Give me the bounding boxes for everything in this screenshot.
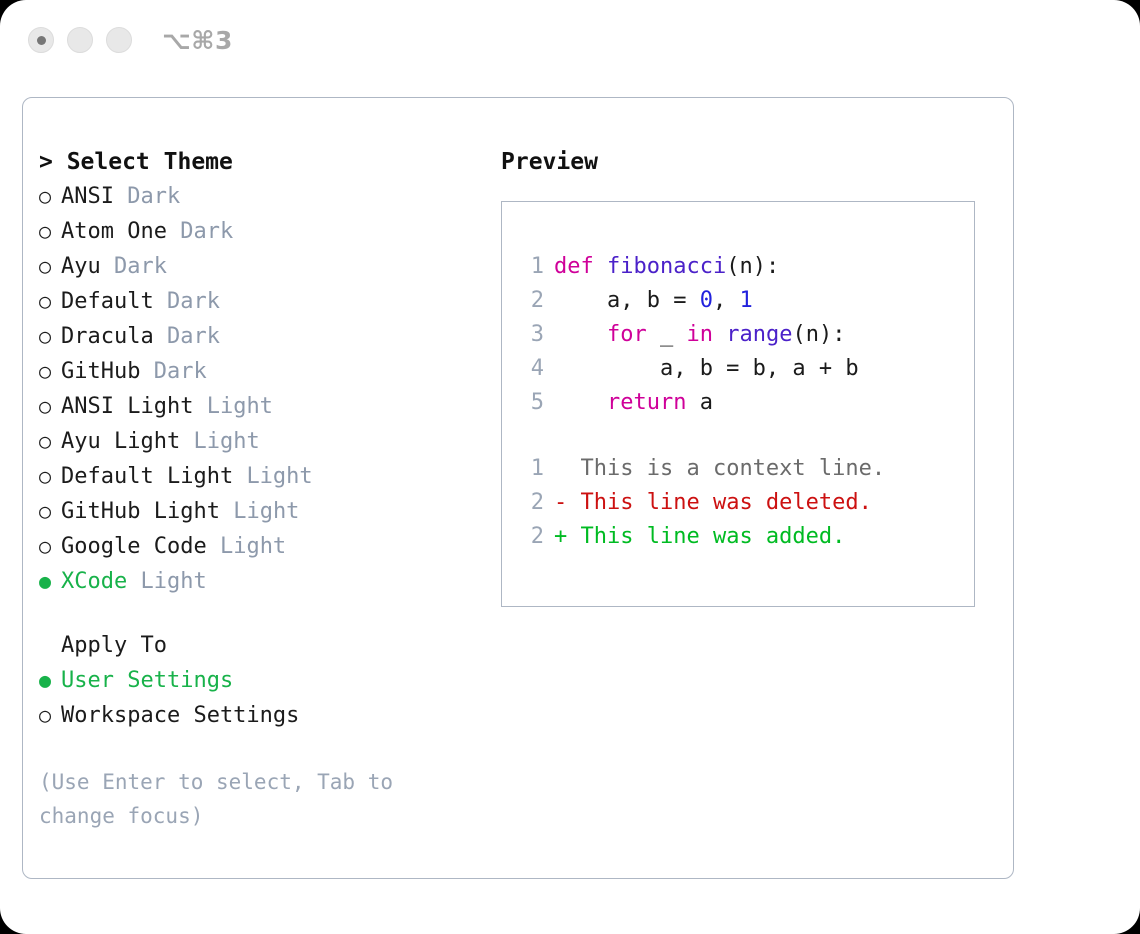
- diff-line-content: - This line was deleted.: [554, 486, 872, 520]
- theme-option-label: Dracula: [61, 320, 154, 354]
- code-token-pln: [554, 322, 607, 347]
- code-line-number: 3: [518, 318, 544, 352]
- preview-box: 1def fibonacci(n):2 a, b = 0, 13 for _ i…: [501, 201, 975, 607]
- diff-line-text: This line was added.: [581, 524, 846, 549]
- window-close-button[interactable]: [28, 27, 54, 53]
- code-line-content: for _ in range(n):: [554, 318, 845, 352]
- theme-option-xcode[interactable]: ●XCode Light: [39, 564, 479, 599]
- apply-to-option-label: User Settings: [61, 664, 233, 698]
- theme-variant-badge: Dark: [180, 215, 233, 249]
- diff-line-content: This is a context line.: [554, 452, 885, 486]
- theme-variant-badge: Light: [233, 495, 299, 529]
- code-line-content: def fibonacci(n):: [554, 250, 779, 284]
- window-zoom-button[interactable]: [106, 27, 132, 53]
- theme-option-label: Default: [61, 285, 154, 319]
- theme-option-github-light[interactable]: ○GitHub Light Light: [39, 494, 479, 529]
- code-sample: 1def fibonacci(n):2 a, b = 0, 13 for _ i…: [518, 250, 966, 554]
- radio-unselected-icon: ○: [39, 249, 61, 283]
- theme-option-ayu[interactable]: ○Ayu Dark: [39, 249, 479, 284]
- radio-unselected-icon: ○: [39, 389, 61, 423]
- theme-option-label: Ayu: [61, 250, 101, 284]
- radio-selected-icon: ●: [39, 663, 61, 697]
- theme-option-label: GitHub Light: [61, 495, 220, 529]
- theme-variant-badge: Dark: [167, 285, 220, 319]
- app-window: ⌥⌘3 > Select Theme ○ANSI Dark○Atom One D…: [0, 0, 1140, 934]
- diff-line-number: 1: [518, 452, 544, 486]
- code-line-content: a, b = b, a + b: [554, 352, 859, 386]
- code-token-pln: a, b =: [554, 288, 700, 313]
- apply-to-section: Apply To ●User Settings○Workspace Settin…: [39, 629, 479, 733]
- code-line-number: 4: [518, 352, 544, 386]
- theme-picker-column: > Select Theme ○ANSI Dark○Atom One Dark○…: [39, 145, 479, 833]
- code-line-content: return a: [554, 386, 713, 420]
- theme-variant-badge: Light: [220, 530, 286, 564]
- code-line-number: 1: [518, 250, 544, 284]
- diff-line-text: This is a context line.: [581, 456, 886, 481]
- theme-option-default-light[interactable]: ○Default Light Light: [39, 459, 479, 494]
- code-token-pln: a, b = b, a + b: [554, 356, 859, 381]
- theme-option-dracula[interactable]: ○Dracula Dark: [39, 319, 479, 354]
- theme-variant-badge: Light: [246, 460, 312, 494]
- code-token-pln: (n):: [792, 322, 845, 347]
- radio-unselected-icon: ○: [39, 698, 61, 732]
- code-line: 2 a, b = 0, 1: [518, 284, 966, 318]
- select-theme-heading: > Select Theme: [39, 145, 479, 179]
- code-line: 1def fibonacci(n):: [518, 250, 966, 284]
- code-token-pln: ,: [713, 288, 740, 313]
- theme-option-label: Ayu Light: [61, 425, 180, 459]
- code-token-num: 0: [700, 288, 713, 313]
- diff-line-del: 2- This line was deleted.: [518, 486, 966, 520]
- preview-heading: Preview: [501, 145, 1001, 179]
- main-panel: > Select Theme ○ANSI Dark○Atom One Dark○…: [22, 97, 1014, 879]
- theme-option-label: Atom One: [61, 215, 167, 249]
- code-token-kw: for: [607, 322, 647, 347]
- theme-option-github[interactable]: ○GitHub Dark: [39, 354, 479, 389]
- theme-option-label: ANSI: [61, 180, 114, 214]
- diff-line-add: 2+ This line was added.: [518, 520, 966, 554]
- theme-option-label: Default Light: [61, 460, 233, 494]
- code-token-fn: fibonacci: [607, 254, 726, 279]
- radio-unselected-icon: ○: [39, 354, 61, 388]
- code-token-pln: (n):: [726, 254, 779, 279]
- theme-variant-badge: Dark: [114, 250, 167, 284]
- theme-variant-badge: Dark: [167, 320, 220, 354]
- radio-unselected-icon: ○: [39, 424, 61, 458]
- code-line: 4 a, b = b, a + b: [518, 352, 966, 386]
- code-line-list: 1def fibonacci(n):2 a, b = 0, 13 for _ i…: [518, 250, 966, 420]
- radio-unselected-icon: ○: [39, 319, 61, 353]
- code-token-kw: return: [607, 390, 686, 415]
- theme-option-label: XCode: [61, 565, 127, 599]
- theme-variant-badge: Light: [193, 425, 259, 459]
- theme-option-ansi[interactable]: ○ANSI Dark: [39, 179, 479, 214]
- code-line: 5 return a: [518, 386, 966, 420]
- apply-to-option-workspace-settings[interactable]: ○Workspace Settings: [39, 698, 479, 733]
- code-line-content: a, b = 0, 1: [554, 284, 753, 318]
- apply-to-list: ●User Settings○Workspace Settings: [39, 663, 479, 733]
- diff-line-number: 2: [518, 520, 544, 554]
- preview-column: Preview 1def fibonacci(n):2 a, b = 0, 13…: [501, 145, 1001, 607]
- code-diff-spacer: [518, 420, 966, 452]
- apply-to-option-label: Workspace Settings: [61, 699, 299, 733]
- code-token-fn: range: [726, 322, 792, 347]
- code-line-number: 2: [518, 284, 544, 318]
- apply-to-option-user-settings[interactable]: ●User Settings: [39, 663, 479, 698]
- theme-option-ansi-light[interactable]: ○ANSI Light Light: [39, 389, 479, 424]
- diff-line-list: 1 This is a context line.2- This line wa…: [518, 452, 966, 554]
- diff-line-ctx: 1 This is a context line.: [518, 452, 966, 486]
- code-token-pln: [713, 322, 726, 347]
- theme-option-label: Google Code: [61, 530, 207, 564]
- radio-unselected-icon: ○: [39, 284, 61, 318]
- diff-line-text: This line was deleted.: [581, 490, 872, 515]
- diff-line-content: + This line was added.: [554, 520, 845, 554]
- apply-to-heading: Apply To: [39, 629, 479, 663]
- theme-variant-badge: Dark: [154, 355, 207, 389]
- code-token-kw: def: [554, 254, 607, 279]
- code-token-pln: [554, 390, 607, 415]
- diff-marker: +: [554, 524, 581, 549]
- code-token-pln: a: [686, 390, 713, 415]
- traffic-light-group: [28, 27, 132, 53]
- code-token-num: 1: [739, 288, 752, 313]
- radio-selected-icon: ●: [39, 564, 61, 598]
- theme-variant-badge: Light: [207, 390, 273, 424]
- keyboard-hint-text: (Use Enter to select, Tab to change focu…: [39, 765, 439, 833]
- code-line-number: 5: [518, 386, 544, 420]
- diff-line-number: 2: [518, 486, 544, 520]
- radio-unselected-icon: ○: [39, 494, 61, 528]
- theme-option-atom-one[interactable]: ○Atom One Dark: [39, 214, 479, 249]
- theme-option-default[interactable]: ○Default Dark: [39, 284, 479, 319]
- theme-option-label: GitHub: [61, 355, 140, 389]
- title-bar: ⌥⌘3: [0, 0, 1140, 80]
- theme-option-google-code[interactable]: ○Google Code Light: [39, 529, 479, 564]
- radio-unselected-icon: ○: [39, 529, 61, 563]
- theme-option-ayu-light[interactable]: ○Ayu Light Light: [39, 424, 479, 459]
- radio-unselected-icon: ○: [39, 179, 61, 213]
- radio-unselected-icon: ○: [39, 214, 61, 248]
- radio-unselected-icon: ○: [39, 459, 61, 493]
- diff-marker: -: [554, 490, 581, 515]
- window-close-icon: [37, 36, 46, 45]
- diff-marker: [554, 456, 581, 481]
- theme-list: ○ANSI Dark○Atom One Dark○Ayu Dark○Defaul…: [39, 179, 479, 599]
- keyboard-shortcut-label: ⌥⌘3: [162, 26, 233, 55]
- code-token-pln: _: [647, 322, 687, 347]
- theme-variant-badge: Dark: [127, 180, 180, 214]
- code-token-kw: in: [686, 322, 713, 347]
- theme-option-label: ANSI Light: [61, 390, 193, 424]
- theme-variant-badge: Light: [140, 565, 206, 599]
- code-line: 3 for _ in range(n):: [518, 318, 966, 352]
- window-minimize-button[interactable]: [67, 27, 93, 53]
